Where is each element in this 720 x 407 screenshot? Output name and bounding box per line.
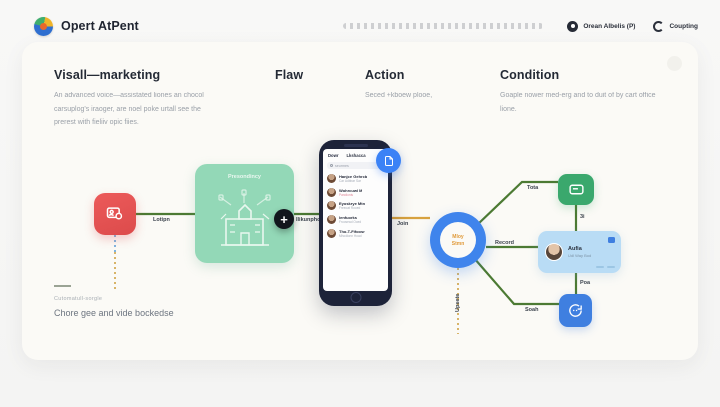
canvas-footnote: Cutomatull-sorgle Chore gee and vide boc… bbox=[54, 285, 204, 321]
contact-card-actions[interactable] bbox=[596, 266, 615, 269]
node-contact-card[interactable]: Aufia Udl Way Bod bbox=[538, 231, 621, 273]
user-avatar-icon bbox=[567, 21, 578, 32]
donut-label-line2: Stmn bbox=[452, 241, 465, 247]
contact-card-sub: Udl Way Bod bbox=[568, 253, 591, 258]
node-donut-mloy-stmn[interactable]: Mloy Stmn bbox=[430, 212, 486, 268]
app-window: Opert AtPent Orean Albelis (P) Coupting … bbox=[0, 0, 720, 407]
footnote-text: Chore gee and vide bockedse bbox=[54, 306, 204, 321]
edge-label-lotipn: Lotipn bbox=[153, 217, 170, 223]
header-actions: Orean Albelis (P) Coupting bbox=[343, 21, 698, 32]
edge-label-poa: Poa bbox=[580, 280, 590, 286]
avatar bbox=[327, 215, 336, 224]
edge-label-3i: 3i bbox=[580, 214, 585, 220]
circular-gradient-logo-icon bbox=[34, 17, 53, 36]
footnote-rule bbox=[54, 285, 71, 287]
chat-bubble-icon bbox=[567, 302, 584, 319]
flow-canvas[interactable]: Visall—marketing An advanced voice—assis… bbox=[22, 42, 698, 360]
avatar bbox=[327, 174, 336, 183]
avatar bbox=[327, 201, 336, 210]
list-item[interactable]: Wohrcuwl M Pandionis bbox=[323, 186, 388, 200]
list-item[interactable]: Hanjce Gehrcb Car Adbbar Sar bbox=[323, 172, 388, 186]
contact-sub: Freeoat Rooed bbox=[339, 206, 365, 210]
avatar bbox=[327, 188, 336, 197]
node-green-message[interactable] bbox=[558, 174, 594, 205]
add-node-button[interactable]: + bbox=[274, 209, 294, 229]
status-badge bbox=[608, 237, 615, 243]
list-item[interactable]: Tho-T-Fifoosr Mhodlonn Hoad bbox=[323, 226, 388, 240]
user-chip-label: Orean Albelis (P) bbox=[583, 23, 635, 30]
phone-home-button[interactable] bbox=[350, 292, 361, 303]
phone-tab-0[interactable]: Dowr bbox=[328, 153, 338, 158]
document-icon bbox=[383, 155, 395, 167]
action-chip-label: Coupting bbox=[669, 23, 698, 30]
list-item[interactable]: Eyoskrye Mtn Freeoat Rooed bbox=[323, 199, 388, 213]
phone-mockup[interactable]: Dowr Lkshacca seurmes Hanjce Gehrcb Car … bbox=[319, 140, 392, 306]
edge-label-record: Record bbox=[495, 240, 514, 246]
node-blue-chat[interactable] bbox=[559, 294, 592, 327]
edge-label-upsete: Upsete bbox=[455, 294, 461, 312]
edge-label-tota: Tota bbox=[527, 185, 538, 191]
user-chip[interactable]: Orean Albelis (P) bbox=[567, 21, 635, 32]
contact-card-icon bbox=[105, 204, 125, 224]
edge-label-soah: Soah bbox=[525, 307, 538, 313]
avatar bbox=[545, 243, 563, 261]
app-title: Opert AtPent bbox=[61, 19, 139, 33]
phone-screen[interactable]: Dowr Lkshacca seurmes Hanjce Gehrcb Car … bbox=[323, 149, 388, 291]
contact-sub: Froosead Ooed bbox=[339, 220, 361, 224]
phone-notch bbox=[344, 144, 368, 147]
loading-ring-icon bbox=[653, 21, 664, 32]
donut-hole: Mloy Stmn bbox=[440, 222, 476, 258]
phone-contact-list[interactable]: Hanjce Gehrcb Car Adbbar Sar Wohrcuwl M … bbox=[323, 172, 388, 291]
phone-tab-1[interactable]: Lkshacca bbox=[346, 153, 365, 158]
contact-sub: Car Adbbar Sar bbox=[339, 179, 367, 183]
phone-search-placeholder: seurmes bbox=[335, 164, 349, 168]
list-item[interactable]: lenfuorks Froosead Ooed bbox=[323, 213, 388, 227]
node-red-action[interactable] bbox=[94, 193, 136, 235]
contact-card-name: Aufia bbox=[568, 246, 591, 252]
donut-label-line1: Mloy bbox=[452, 234, 463, 240]
footnote-eyebrow: Cutomatull-sorgle bbox=[54, 296, 204, 302]
contact-sub: Pandionis bbox=[339, 193, 362, 197]
brand[interactable]: Opert AtPent bbox=[34, 17, 139, 36]
header-placeholder-text bbox=[343, 23, 543, 29]
action-chip[interactable]: Coupting bbox=[653, 21, 698, 32]
message-bubble-icon bbox=[568, 181, 585, 198]
avatar bbox=[327, 229, 336, 238]
edge-label-join: Join bbox=[397, 221, 408, 227]
search-icon bbox=[330, 164, 333, 167]
contact-sub: Mhodlonn Hoad bbox=[339, 234, 365, 238]
phone-document-badge[interactable] bbox=[376, 148, 401, 173]
